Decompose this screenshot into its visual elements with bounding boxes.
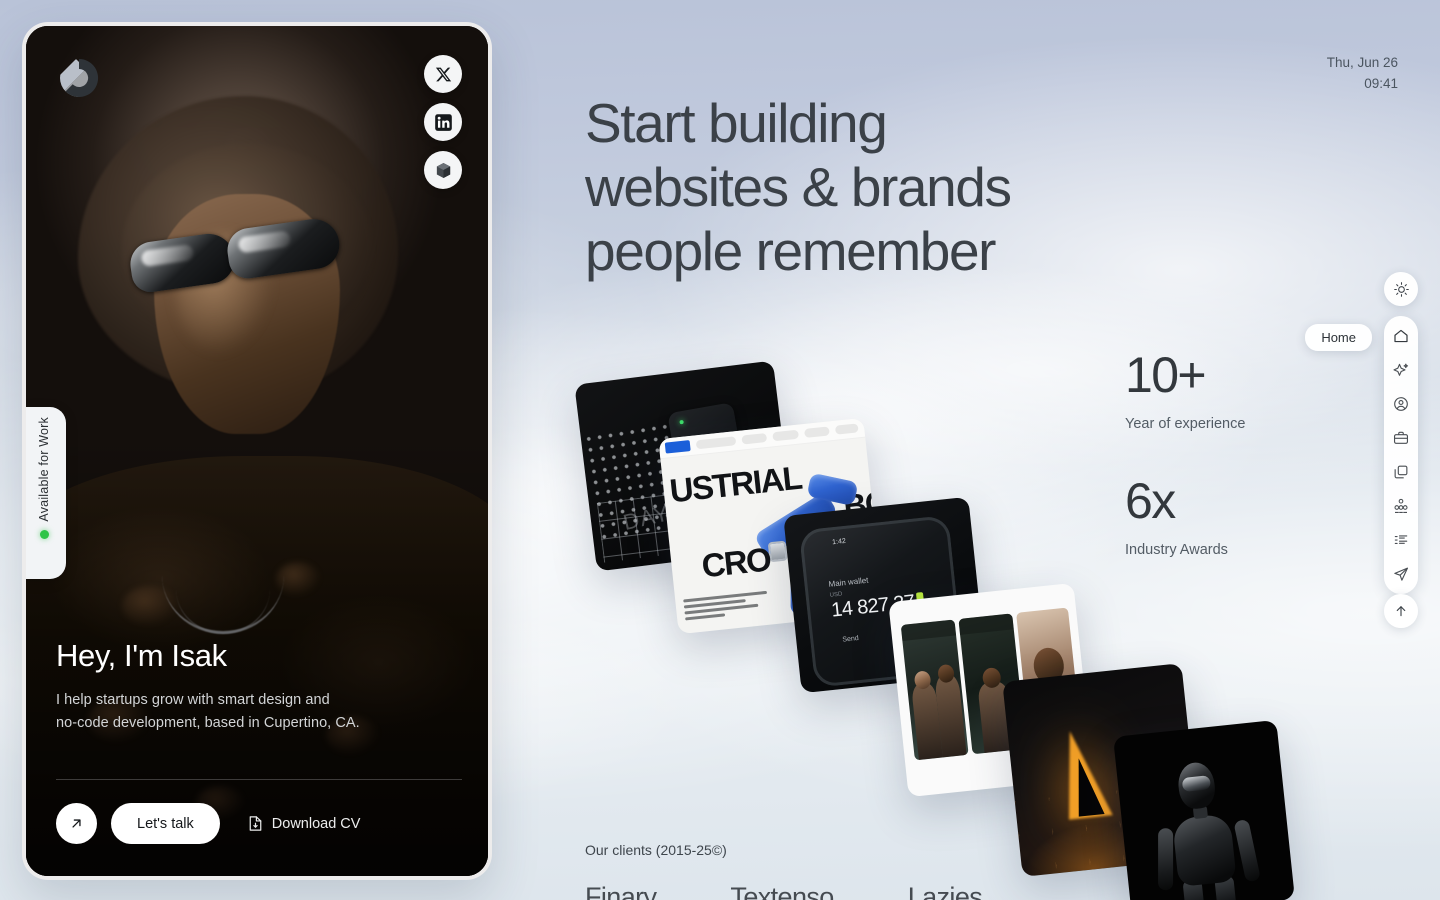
stats-group: 10+ Year of experience 6x Industry Award… [1125, 350, 1245, 602]
hero-headline: Start building websites & brands people … [585, 92, 1011, 283]
nav-chip [695, 436, 736, 449]
headline-line-3: people remember [585, 220, 1011, 284]
people-icon [1392, 497, 1410, 515]
profile-copy: Hey, I'm Isak I help startups grow with … [56, 639, 456, 736]
dock-item-work[interactable] [1388, 427, 1414, 449]
layers-icon [1392, 463, 1410, 481]
download-cv-button[interactable]: Download CV [248, 815, 361, 832]
divider [56, 779, 462, 780]
theme-toggle-button[interactable] [1384, 272, 1418, 306]
stat-label: Industry Awards [1125, 542, 1245, 558]
tile-topbar [901, 619, 956, 641]
robot-torso [1172, 813, 1237, 887]
sparkle-icon [1392, 361, 1410, 379]
availability-label: Available for Work [37, 417, 51, 522]
lens-right [225, 216, 343, 281]
social-links [424, 55, 462, 189]
portrait-photo [26, 26, 488, 876]
profile-name-heading: Hey, I'm Isak [56, 639, 456, 673]
nav-chip [835, 423, 859, 434]
user-circle-icon [1392, 395, 1410, 413]
nav-chip [741, 433, 767, 445]
x-twitter-icon[interactable] [424, 55, 462, 93]
robot-gripper [768, 541, 788, 563]
stat-value: 6x [1125, 476, 1245, 526]
work-card-humanoid-robot[interactable] [1113, 720, 1295, 900]
gallery-tile [901, 619, 969, 760]
phone-status-time: 1:42 [832, 538, 846, 546]
navigation-dock [1384, 316, 1418, 594]
dock-item-pricing[interactable] [1388, 529, 1414, 551]
bio-line-2: no-code development, based in Cupertino,… [56, 715, 360, 731]
dock-item-about[interactable] [1388, 393, 1414, 415]
brand-logo-icon[interactable] [56, 55, 102, 101]
robot-arm-right [1233, 819, 1261, 883]
stat-label: Year of experience [1125, 416, 1245, 432]
headline-line-1: Start building [585, 92, 1011, 156]
bio-line-1: I help startups grow with smart design a… [56, 692, 330, 708]
sun-icon [1393, 281, 1410, 298]
profile-card: Available for Work Hey, I'm Isak I help … [22, 22, 492, 880]
document-download-icon [248, 815, 263, 832]
site-logo-badge [665, 440, 691, 454]
lets-talk-button[interactable]: Let's talk [111, 803, 220, 844]
dock-item-home[interactable] [1388, 325, 1414, 347]
dock-item-projects[interactable] [1388, 461, 1414, 483]
status-date: Thu, Jun 26 [1327, 53, 1398, 74]
client-logo-row: Finary Textenso Lazies [585, 884, 1105, 900]
dock-item-contact[interactable] [1388, 563, 1414, 585]
dock-item-clients[interactable] [1388, 495, 1414, 517]
robot-arm-left [1158, 828, 1173, 890]
dock-item-services[interactable] [1388, 359, 1414, 381]
download-cv-label: Download CV [272, 816, 361, 832]
stat-experience: 10+ Year of experience [1125, 350, 1245, 432]
profile-bio: I help startups grow with smart design a… [56, 689, 456, 736]
page-root: Thu, Jun 26 09:41 Start building website… [0, 0, 1440, 900]
tile-topbar [958, 613, 1013, 635]
stat-value: 10+ [1125, 350, 1245, 400]
home-icon [1392, 327, 1410, 345]
card-headline-2: CRO [700, 544, 771, 581]
lens-left [128, 231, 238, 295]
client-logo: Lazies [908, 884, 982, 900]
arrow-up-icon [1393, 603, 1409, 619]
clients-label: Our clients (2015-25©) [585, 842, 727, 858]
stat-awards: 6x Industry Awards [1125, 476, 1245, 558]
status-datetime: Thu, Jun 26 09:41 [1327, 53, 1398, 95]
headline-line-2: websites & brands [585, 156, 1011, 220]
availability-dot [40, 530, 49, 539]
status-time: 09:41 [1327, 74, 1398, 95]
arrow-up-right-icon[interactable] [56, 803, 97, 844]
linkedin-icon[interactable] [424, 103, 462, 141]
cube-icon[interactable] [424, 151, 462, 189]
client-logo: Textenso [730, 884, 833, 900]
list-icon [1392, 531, 1410, 549]
send-icon [1392, 565, 1410, 583]
nav-chip [772, 430, 799, 442]
briefcase-icon [1392, 429, 1410, 447]
profile-actions: Let's talk Download CV [56, 803, 360, 844]
nav-chip [804, 426, 830, 438]
dock-tooltip: Home [1305, 324, 1372, 351]
scroll-to-top-button[interactable] [1384, 594, 1418, 628]
client-logo: Finary [585, 884, 656, 900]
availability-badge[interactable]: Available for Work [22, 407, 66, 579]
